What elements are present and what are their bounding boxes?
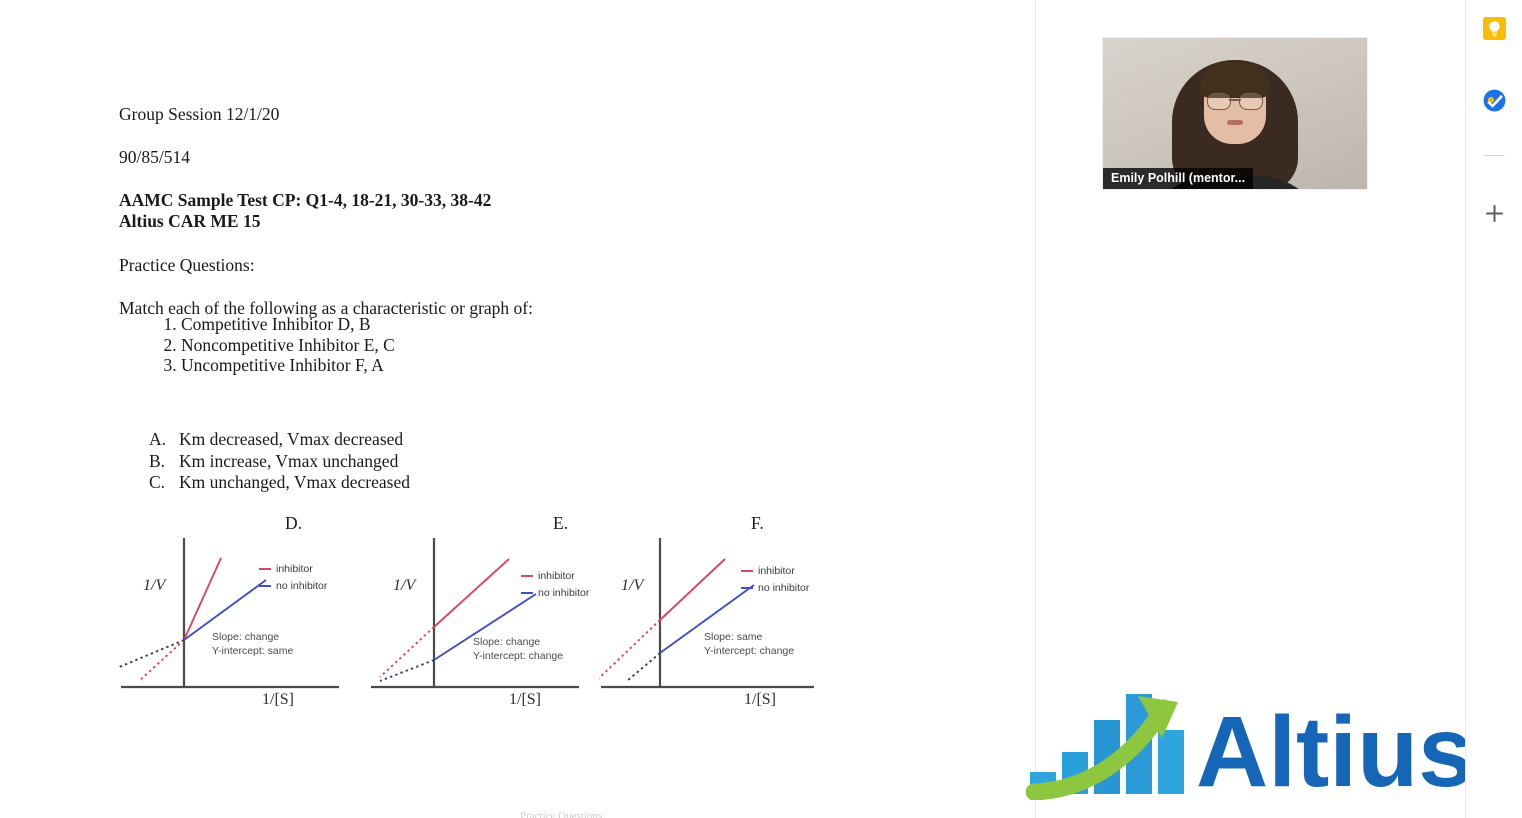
altius-logo: Altius TEST PREP	[1026, 690, 1522, 800]
legend-swatch-icon	[521, 592, 533, 594]
glasses-icon	[1207, 93, 1263, 108]
list-item-marker: C.	[149, 472, 179, 494]
graph-D-ylabel: 1/V	[143, 577, 165, 595]
mouth-icon	[1227, 120, 1243, 125]
page-bleed-text: Practice Questions:	[520, 810, 605, 818]
graph-E-xlabel: 1/[S]	[509, 691, 541, 709]
list-item: Noncompetitive Inhibitor E, C	[181, 335, 395, 356]
legend-entry-no-inhibitor: no inhibitor	[259, 578, 327, 595]
list-item: C. Km unchanged, Vmax decreased	[149, 472, 410, 494]
legend-swatch-icon	[259, 568, 271, 570]
legend-entry-inhibitor: inhibitor	[259, 561, 327, 578]
next-page-bleed: Practice Questions:	[0, 808, 1035, 818]
graph-F-legend: inhibitor no inhibitor	[741, 563, 809, 596]
legend-entry-inhibitor: inhibitor	[521, 568, 589, 585]
add-on-icon[interactable]	[1482, 201, 1507, 226]
legend-entry-no-inhibitor: no inhibitor	[741, 580, 809, 597]
legend-swatch-icon	[741, 587, 753, 589]
list-item: Uncompetitive Inhibitor F, A	[181, 355, 395, 376]
legend-label: no inhibitor	[538, 585, 589, 602]
session-line: Group Session 12/1/20	[119, 106, 279, 124]
google-workspace-side-rail	[1465, 0, 1522, 818]
characteristic-list: A. Km decreased, Vmax decreased B. Km in…	[149, 429, 410, 494]
legend-label: inhibitor	[276, 561, 313, 578]
legend-swatch-icon	[741, 570, 753, 572]
legend-label: no inhibitor	[276, 578, 327, 595]
annotation-intercept: Y-intercept: change	[473, 649, 563, 663]
lineweaver-burk-figure-group: D. 1/V 1/[S] inhibitor no inhibitor	[0, 505, 900, 720]
list-item: A. Km decreased, Vmax decreased	[149, 429, 410, 451]
document-page[interactable]: Group Session 12/1/20 90/85/514 AAMC Sam…	[0, 0, 1035, 818]
graph-D-xlabel: 1/[S]	[262, 691, 294, 709]
annotation-intercept: Y-intercept: change	[704, 644, 794, 658]
list-item: Competitive Inhibitor D, B	[181, 314, 395, 335]
heading-line-2: Altius CAR ME 15	[119, 213, 260, 231]
practice-label: Practice Questions:	[119, 257, 255, 275]
tasks-icon[interactable]	[1482, 88, 1507, 113]
participant-video-tile[interactable]: Altius Emily Polhill (mentor...	[1103, 38, 1367, 189]
scores-line: 90/85/514	[119, 149, 190, 167]
graph-E-legend: inhibitor no inhibitor	[521, 568, 589, 601]
graph-E-ylabel: 1/V	[393, 577, 415, 595]
list-item-marker: B.	[149, 451, 179, 473]
legend-swatch-icon	[521, 575, 533, 577]
rail-divider	[1484, 155, 1505, 156]
list-item-label: Km decreased, Vmax decreased	[179, 429, 403, 451]
list-item-label: Km increase, Vmax unchanged	[179, 451, 398, 473]
keep-icon[interactable]	[1482, 16, 1507, 41]
meeting-side-panel: Altius Emily Polhill (mentor... Altius T…	[1035, 0, 1466, 818]
graph-D-legend: inhibitor no inhibitor	[259, 561, 327, 594]
annotation-intercept: Y-intercept: same	[212, 644, 293, 658]
legend-label: inhibitor	[538, 568, 575, 585]
list-item: B. Km increase, Vmax unchanged	[149, 451, 410, 473]
annotation-slope: Slope: change	[473, 635, 563, 649]
graph-F-xlabel: 1/[S]	[744, 691, 776, 709]
annotation-slope: Slope: change	[212, 630, 293, 644]
graph-D-annotations: Slope: change Y-intercept: same	[212, 630, 293, 658]
legend-entry-inhibitor: inhibitor	[741, 563, 809, 580]
graph-F-ylabel: 1/V	[621, 577, 643, 595]
altius-wordmark: Altius	[1196, 696, 1474, 800]
legend-label: no inhibitor	[758, 580, 809, 597]
graph-F-annotations: Slope: same Y-intercept: change	[704, 630, 794, 658]
graph-F-plot	[599, 505, 899, 720]
legend-swatch-icon	[259, 585, 271, 587]
annotation-slope: Slope: same	[704, 630, 794, 644]
list-item-marker: A.	[149, 429, 179, 451]
heading-line-1: AAMC Sample Test CP: Q1-4, 18-21, 30-33,…	[119, 192, 491, 210]
inhibitor-list: Competitive Inhibitor D, B Noncompetitiv…	[149, 314, 395, 376]
participant-name-label: Emily Polhill (mentor...	[1103, 168, 1253, 189]
graph-E-annotations: Slope: change Y-intercept: change	[473, 635, 563, 663]
graph-F: F. 1/V 1/[S] inhibitor no inhibitor	[599, 505, 899, 720]
list-item-label: Km unchanged, Vmax decreased	[179, 472, 410, 494]
legend-label: inhibitor	[758, 563, 795, 580]
legend-entry-no-inhibitor: no inhibitor	[521, 585, 589, 602]
